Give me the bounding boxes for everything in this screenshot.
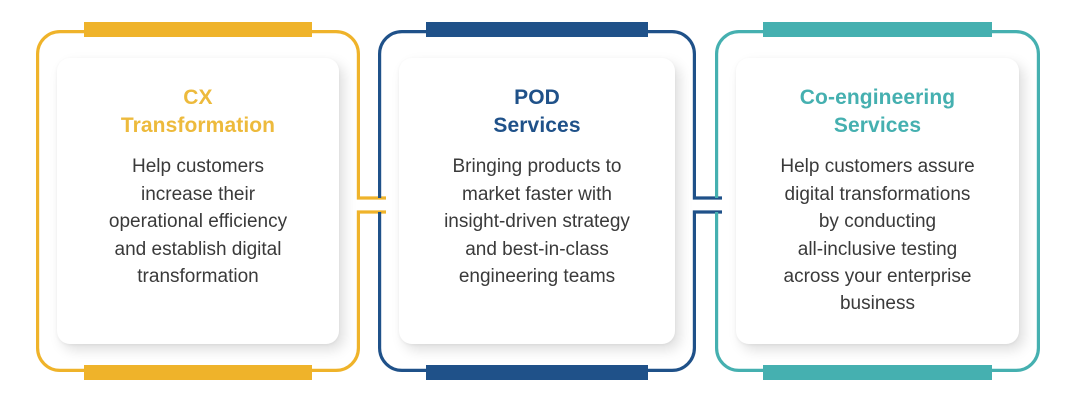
services-card-diagram: CX Transformation Help customers increas… bbox=[0, 0, 1078, 401]
accent-bar-top-co-engineering-services bbox=[763, 22, 992, 37]
accent-bar-bottom-cx-transformation bbox=[84, 365, 312, 380]
card-title-cx-transformation: CX Transformation bbox=[121, 84, 275, 139]
card-cx-transformation[interactable]: CX Transformation Help customers increas… bbox=[57, 58, 339, 344]
accent-bar-bottom-co-engineering-services bbox=[763, 365, 992, 380]
card-title-pod-services: POD Services bbox=[493, 84, 580, 139]
card-body-co-engineering-services: Help customers assure digital transforma… bbox=[776, 153, 978, 317]
card-unit-cx-transformation[interactable]: CX Transformation Help customers increas… bbox=[36, 30, 360, 372]
card-co-engineering-services[interactable]: Co-engineering Services Help customers a… bbox=[736, 58, 1019, 344]
accent-bar-top-pod-services bbox=[426, 22, 648, 37]
card-pod-services[interactable]: POD Services Bringing products to market… bbox=[399, 58, 675, 344]
card-unit-pod-services[interactable]: POD Services Bringing products to market… bbox=[378, 30, 696, 372]
card-unit-co-engineering-services[interactable]: Co-engineering Services Help customers a… bbox=[715, 30, 1040, 372]
card-title-co-engineering-services: Co-engineering Services bbox=[800, 84, 955, 139]
accent-bar-bottom-pod-services bbox=[426, 365, 648, 380]
accent-bar-top-cx-transformation bbox=[84, 22, 312, 37]
card-body-cx-transformation: Help customers increase their operationa… bbox=[103, 153, 293, 290]
card-body-pod-services: Bringing products to market faster with … bbox=[442, 153, 632, 290]
